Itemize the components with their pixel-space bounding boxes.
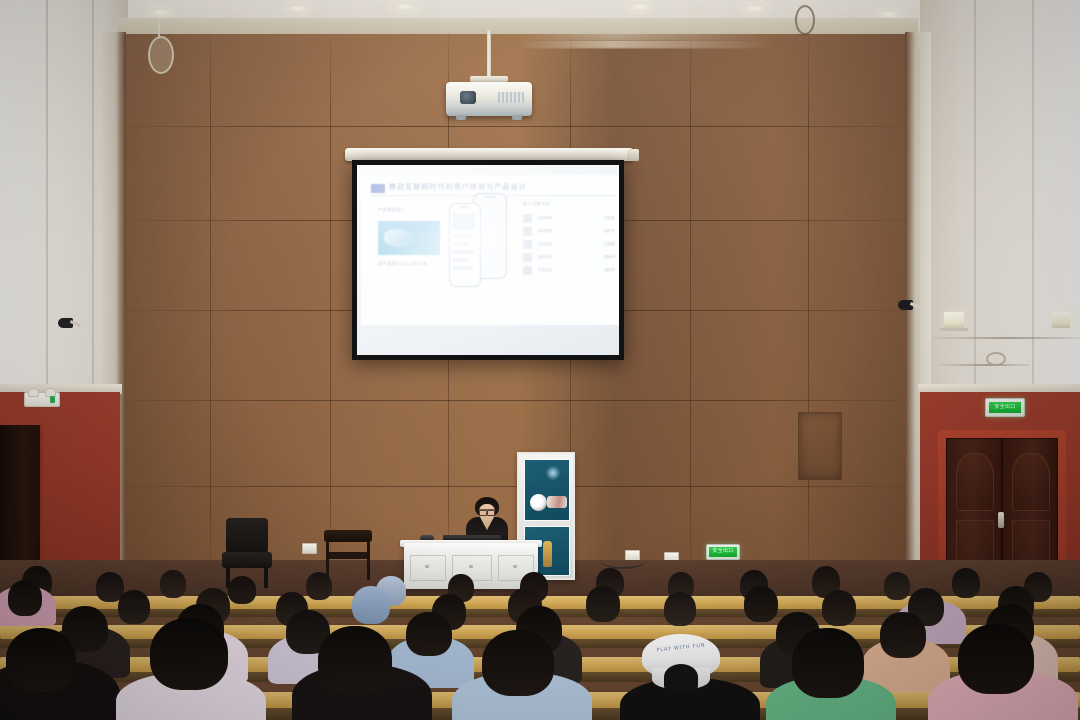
ceiling-hook-ring-icon xyxy=(795,5,815,35)
slide-table-header: 核心功能对比 xyxy=(523,201,615,207)
emergency-lamp-icon xyxy=(28,388,39,397)
audience-head xyxy=(792,628,864,698)
audience-head xyxy=(744,586,778,622)
row-note: 进行中 xyxy=(591,229,615,234)
ceiling-light xyxy=(285,4,311,13)
audience-head xyxy=(160,570,186,598)
wall-ring-icon xyxy=(986,352,1006,366)
fire-hose-icon xyxy=(547,496,567,508)
ceiling-hook-wire xyxy=(158,18,160,38)
emergency-indicator xyxy=(50,396,55,403)
row-icon xyxy=(523,266,532,275)
audience-head xyxy=(482,630,554,696)
cabinet-reflection xyxy=(545,466,561,480)
screen-roller-end-cap xyxy=(627,149,639,161)
row-label: 信息架构 xyxy=(538,216,591,221)
slide-left-caption-top: 产品界面展示 xyxy=(378,207,405,213)
security-camera-icon xyxy=(58,318,80,329)
hose-reel-icon xyxy=(530,494,547,511)
projector-mount-rod xyxy=(487,30,491,78)
cabinet-upper-glass xyxy=(524,459,570,521)
exit-sign-wall: 安全出口 xyxy=(985,398,1025,417)
exit-sign-text: 安全出口 xyxy=(709,547,737,556)
slide-title: 移动互联网时代的用户体验与产品设计 xyxy=(389,182,527,192)
row-label: 交互反馈 xyxy=(538,242,591,247)
audience-head xyxy=(822,590,856,626)
audience-head-beanie xyxy=(352,586,390,624)
projector-vent xyxy=(498,92,524,103)
emergency-light-fixture xyxy=(24,392,60,407)
slide-table-row: 视觉规范 进行中 xyxy=(523,225,615,238)
slide-table-row: 数据埋点 规划中 xyxy=(523,251,615,264)
row-icon xyxy=(523,253,532,262)
exit-sign-text: 安全出口 xyxy=(989,402,1022,413)
row-icon xyxy=(523,227,532,236)
floor-cable xyxy=(600,553,646,569)
screen-surface: 移动互联网时代的用户体验与产品设计 产品界面展示 用户旅程与交互流程示意 xyxy=(357,165,619,355)
slide-left-caption-bottom: 用户旅程与交互流程示意 xyxy=(378,261,428,267)
lecture-hall-photo: 移动互联网时代的用户体验与产品设计 产品界面展示 用户旅程与交互流程示意 xyxy=(0,0,1080,720)
stage-wooden-chair[interactable] xyxy=(322,530,374,580)
ceiling-light xyxy=(627,2,653,11)
audience-head xyxy=(884,572,910,600)
projection-screen: 移动互联网时代的用户体验与产品设计 产品界面展示 用户旅程与交互流程示意 xyxy=(352,160,624,360)
slide-table-row: 交互反馈 已完成 xyxy=(523,238,615,251)
stage-armchair[interactable] xyxy=(220,518,274,580)
right-upper-wall xyxy=(920,0,1080,400)
wall-rail xyxy=(932,337,1080,339)
audience-head xyxy=(150,618,228,690)
row-label: 性能优化 xyxy=(538,268,591,273)
row-note: 规划中 xyxy=(591,255,615,260)
sconce-bracket xyxy=(940,328,968,331)
slide-table-row: 信息架构 已完成 xyxy=(523,212,615,225)
ceiling-light xyxy=(392,2,418,11)
audience-head xyxy=(8,580,42,616)
audience-head xyxy=(118,590,150,624)
fire-extinguisher-icon xyxy=(543,541,552,567)
phone-mockup-front xyxy=(449,203,481,287)
audience-head xyxy=(318,626,392,694)
row-icon xyxy=(523,214,532,223)
row-label: 数据埋点 xyxy=(538,255,591,260)
wall-rail xyxy=(940,364,1030,366)
door-handle-icon[interactable] xyxy=(998,512,1004,528)
slide-accent-block xyxy=(371,184,385,193)
audience-head xyxy=(306,572,332,600)
row-label: 视觉规范 xyxy=(538,229,591,234)
cap-strap xyxy=(664,664,698,690)
projector-lens-icon xyxy=(460,91,476,104)
slide-table-row: 性能优化 进行中 xyxy=(523,264,615,277)
glasses-icon xyxy=(479,509,495,514)
row-icon xyxy=(523,240,532,249)
audience-head xyxy=(952,568,980,598)
audience-head xyxy=(406,612,452,656)
audience-head xyxy=(958,624,1034,694)
row-note: 进行中 xyxy=(591,268,615,273)
audience-head xyxy=(664,592,696,626)
slide-table: 核心功能对比 信息架构 已完成 视觉规范 进行中 交互反馈 已完成 xyxy=(523,201,615,277)
ceiling-light xyxy=(742,4,768,13)
audience-head xyxy=(880,612,926,658)
ceiling-light xyxy=(148,8,174,17)
ceiling-hook-ring-icon xyxy=(148,36,174,74)
ceiling-projector xyxy=(446,82,532,116)
slide-image-placeholder xyxy=(378,221,440,255)
wall-sconce-light xyxy=(944,312,964,328)
presentation-slide: 移动互联网时代的用户体验与产品设计 产品界面展示 用户旅程与交互流程示意 xyxy=(361,175,619,325)
wall-notice-board xyxy=(798,412,842,480)
audience-head xyxy=(6,628,76,692)
exit-sign-stage: 安全出口 xyxy=(706,544,740,560)
wall-sconce-light xyxy=(1052,312,1070,328)
row-note: 已完成 xyxy=(591,216,615,221)
row-note: 已完成 xyxy=(591,242,615,247)
audience-baseball-cap: PLAY WITH FUN xyxy=(642,634,720,688)
audience-head xyxy=(586,586,620,622)
power-outlet[interactable] xyxy=(302,543,317,554)
audience-head xyxy=(228,576,256,604)
security-camera-icon xyxy=(898,300,920,311)
